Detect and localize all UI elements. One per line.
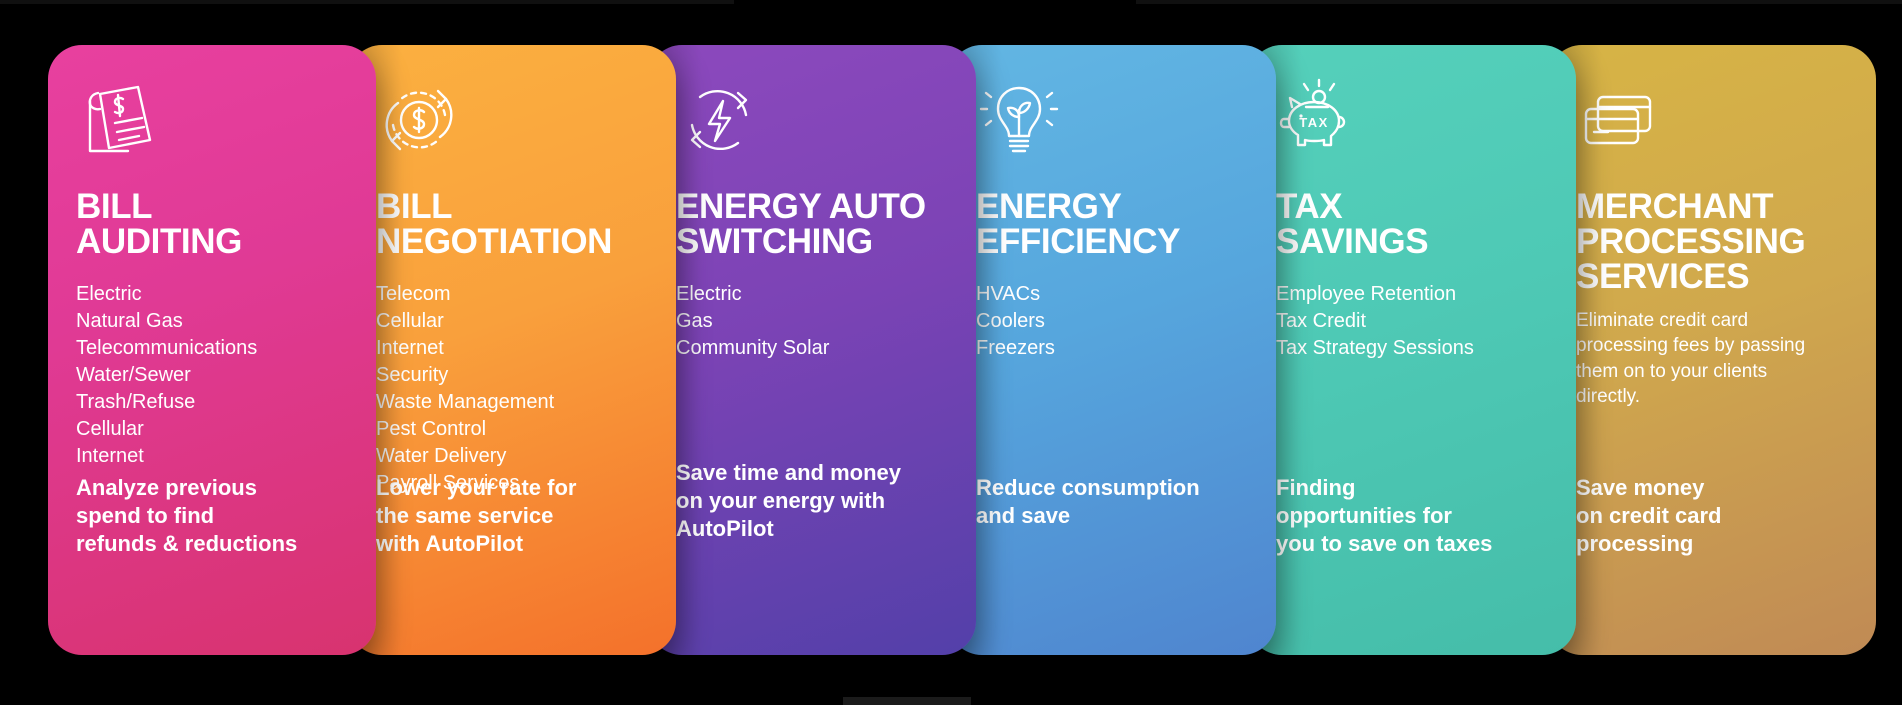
piggy-bank-tax-icon: TAX: [1276, 77, 1550, 163]
bottom-frame-notch: [843, 697, 971, 705]
card-merchant-processing-services[interactable]: MERCHANT PROCESSING SERVICES Eliminate c…: [1548, 45, 1876, 655]
list-item: Telecommunications: [76, 335, 350, 362]
top-frame-left: [0, 0, 734, 4]
card-service-list: HVACs Coolers Freezers: [976, 281, 1250, 362]
card-tagline: Analyze previous spend to find refunds &…: [76, 474, 354, 558]
card-bill-auditing[interactable]: BILL AUDITING Electric Natural Gas Telec…: [48, 45, 376, 655]
card-energy-efficiency[interactable]: ENERGY EFFICIENCY HVACs Coolers Freezers…: [948, 45, 1276, 655]
card-title: BILL NEGOTIATION: [376, 189, 650, 259]
card-bill-negotiation[interactable]: BILL NEGOTIATION Telecom Cellular Intern…: [348, 45, 676, 655]
card-tagline: Reduce consumption and save: [976, 474, 1254, 530]
lightbulb-leaf-icon: [976, 77, 1250, 163]
svg-text:TAX: TAX: [1299, 115, 1329, 130]
list-item: Employee Retention: [1276, 281, 1550, 308]
list-item: Water Delivery: [376, 443, 650, 470]
list-item: Electric: [676, 281, 950, 308]
invoice-dollar-icon: [76, 77, 350, 163]
list-item: Waste Management: [376, 389, 650, 416]
list-item: Security: [376, 362, 650, 389]
credit-cards-icon: [1576, 77, 1850, 163]
list-item: Pest Control: [376, 416, 650, 443]
list-item: Freezers: [976, 335, 1250, 362]
dollar-refresh-icon: [376, 77, 650, 163]
card-service-list: Electric Natural Gas Telecommunications …: [76, 281, 350, 470]
list-item: Tax Strategy Sessions: [1276, 335, 1550, 362]
card-paragraph: Eliminate credit card processing fees by…: [1576, 308, 1826, 409]
list-item: Internet: [76, 443, 350, 470]
card-title: TAX SAVINGS: [1276, 189, 1550, 259]
card-service-list: Telecom Cellular Internet Security Waste…: [376, 281, 650, 497]
card-energy-auto-switching[interactable]: ENERGY AUTO SWITCHING Electric Gas Commu…: [648, 45, 976, 655]
card-service-list: Employee Retention Tax Credit Tax Strate…: [1276, 281, 1550, 362]
card-title: ENERGY EFFICIENCY: [976, 189, 1250, 259]
list-item: Internet: [376, 335, 650, 362]
card-tagline: Save money on credit card processing: [1576, 474, 1854, 558]
card-tax-savings[interactable]: TAX TAX SAVINGS Employee Retention Tax C…: [1248, 45, 1576, 655]
card-tagline: Lower your rate for the same service wit…: [376, 474, 654, 558]
list-item: Telecom: [376, 281, 650, 308]
list-item: Gas: [676, 308, 950, 335]
list-item: Electric: [76, 281, 350, 308]
infographic-stage: BILL AUDITING Electric Natural Gas Telec…: [0, 0, 1902, 705]
energy-bolt-refresh-icon: [676, 77, 950, 163]
card-service-list: Electric Gas Community Solar: [676, 281, 950, 362]
card-tagline: Finding opportunities for you to save on…: [1276, 474, 1554, 558]
card-title: BILL AUDITING: [76, 189, 350, 259]
card-tagline: Save time and money on your energy with …: [676, 459, 954, 543]
list-item: Coolers: [976, 308, 1250, 335]
list-item: Community Solar: [676, 335, 950, 362]
list-item: HVACs: [976, 281, 1250, 308]
card-title: ENERGY AUTO SWITCHING: [676, 189, 950, 259]
card-title: MERCHANT PROCESSING SERVICES: [1576, 189, 1850, 294]
list-item: Natural Gas: [76, 308, 350, 335]
list-item: Tax Credit: [1276, 308, 1550, 335]
list-item: Cellular: [76, 416, 350, 443]
top-frame-right: [1136, 0, 1902, 4]
list-item: Cellular: [376, 308, 650, 335]
list-item: Trash/Refuse: [76, 389, 350, 416]
list-item: Water/Sewer: [76, 362, 350, 389]
